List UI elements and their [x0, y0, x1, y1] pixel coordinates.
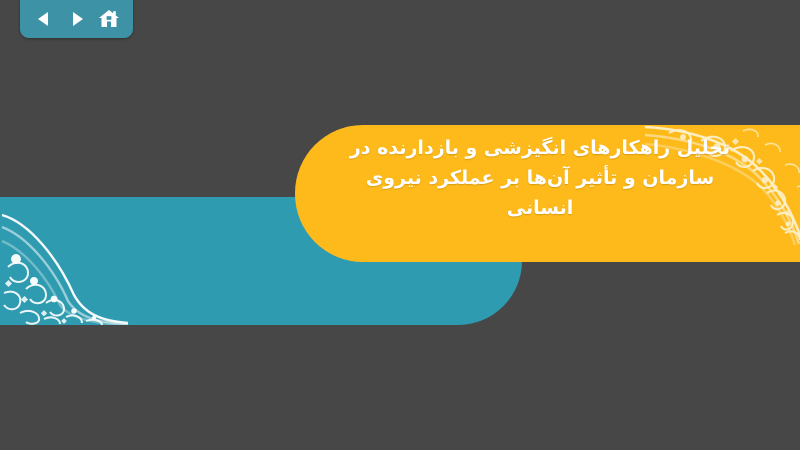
- forward-button[interactable]: [64, 6, 90, 32]
- back-button[interactable]: [31, 6, 57, 32]
- triangle-left-icon: [34, 9, 54, 29]
- arabesque-corner-ornament: [0, 197, 130, 325]
- navigation-bar: [20, 0, 133, 38]
- home-icon: [98, 8, 120, 30]
- title-line-3: انسانی: [330, 193, 750, 223]
- title-line-2: سازمان و تأثیر آن‌ها بر عملکرد نیروی: [330, 163, 750, 193]
- triangle-right-icon: [67, 9, 87, 29]
- slide-title: تحلیل راهکارهای انگیزشی و بازدارنده در س…: [330, 133, 750, 223]
- presentation-slide: تحلیل راهکارهای انگیزشی و بازدارنده در س…: [0, 0, 800, 450]
- title-line-1: تحلیل راهکارهای انگیزشی و بازدارنده در: [330, 133, 750, 163]
- home-button[interactable]: [96, 6, 122, 32]
